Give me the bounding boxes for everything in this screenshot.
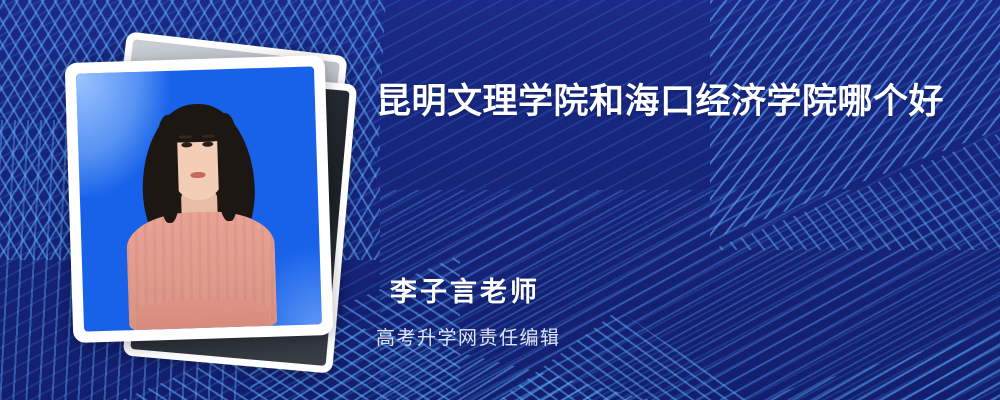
banner-text-column: 昆明文理学院和海口经济学院哪个好 李子言老师 高考升学网责任编辑	[376, 0, 970, 400]
author-block: 李子言老师 高考升学网责任编辑	[376, 270, 561, 350]
page-title: 昆明文理学院和海口经济学院哪个好	[376, 72, 970, 132]
portrait-brow-right	[202, 134, 215, 137]
author-name: 李子言老师	[376, 270, 561, 309]
author-role: 高考升学网责任编辑	[376, 323, 561, 350]
article-cover-banner: 昆明文理学院和海口经济学院哪个好 李子言老师 高考升学网责任编辑	[0, 0, 1000, 400]
photo-card-stack	[55, 35, 345, 365]
portrait-mouth	[190, 172, 206, 178]
photo-card-front	[65, 55, 334, 343]
portrait-illustration	[76, 66, 322, 331]
portrait-brow-left	[179, 135, 192, 138]
avatar	[76, 66, 322, 331]
portrait-waist	[136, 297, 270, 330]
